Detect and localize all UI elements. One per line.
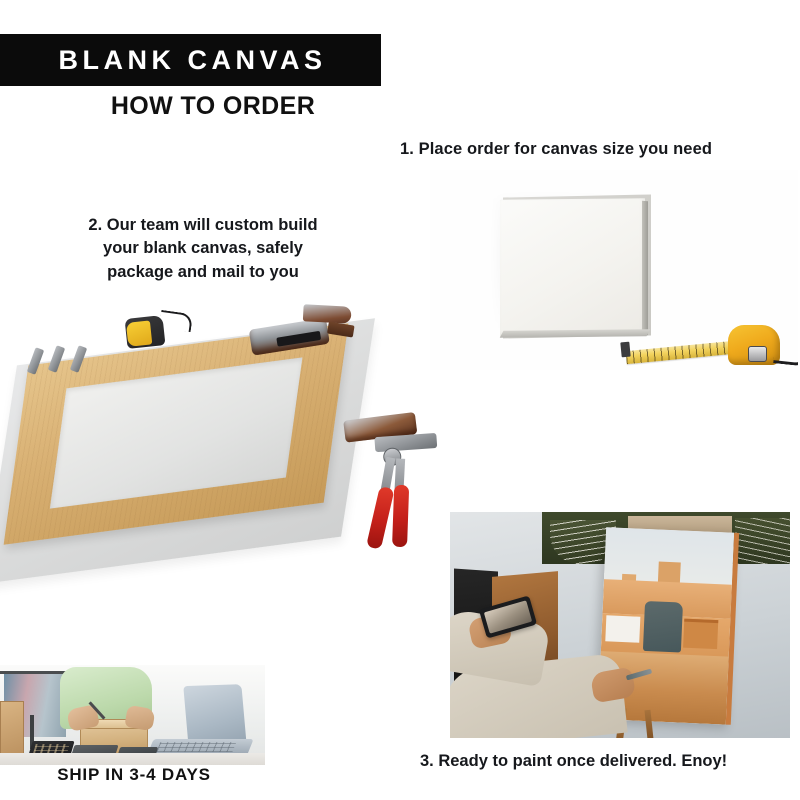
pliers-jaw xyxy=(374,433,437,452)
blank-canvas-photo xyxy=(430,170,798,370)
staple-gun-handle xyxy=(303,304,352,323)
canvas-right-edge xyxy=(642,201,648,336)
painting-white-shape xyxy=(605,615,640,642)
painting-structure xyxy=(683,619,718,649)
tape-measure-hook xyxy=(620,342,630,358)
step-2-caption-line-3: package and mail to you xyxy=(48,261,358,284)
tape-measure-yellow-body xyxy=(126,320,152,346)
macrame-wall-hanging xyxy=(735,518,790,564)
step-1-caption: 1. Place order for canvas size you need xyxy=(400,140,790,159)
title-band: BLANK CANVAS xyxy=(0,34,381,86)
tape-measure-strap xyxy=(159,310,193,332)
step-2-caption-line-2: your blank canvas, safely xyxy=(48,237,358,260)
step-3-caption: 3. Ready to paint once delivered. Enoy! xyxy=(420,752,795,771)
canvas-front-face xyxy=(500,198,645,337)
step-2-caption: 2. Our team will custom build your blank… xyxy=(48,214,358,284)
laptop-keyboard xyxy=(156,742,236,752)
infographic-root: BLANK CANVAS HOW TO ORDER 1. Place order… xyxy=(0,0,800,800)
tape-measure-blade-icon xyxy=(626,341,735,364)
page-title: BLANK CANVAS xyxy=(25,47,357,74)
packing-photo xyxy=(0,665,265,765)
canvas-pliers-icon xyxy=(331,413,455,564)
stacked-cardboard-boxes xyxy=(0,701,24,757)
tape-measure-cord xyxy=(773,344,798,367)
pliers-red-grip xyxy=(366,486,395,550)
step-2-caption-line-1: 2. Our team will custom build xyxy=(48,214,358,237)
clothes-rack-bar xyxy=(0,671,70,674)
page-subtitle: HOW TO ORDER xyxy=(58,92,368,121)
tape-measure-center-hub xyxy=(748,346,767,362)
painting-dark-figure xyxy=(643,601,683,653)
tape-measure-ticks xyxy=(626,341,735,364)
pliers-red-grip xyxy=(392,485,409,547)
shipping-label: SHIP IN 3-4 DAYS xyxy=(0,765,268,785)
desk-surface xyxy=(0,753,265,765)
artist-painting-photo xyxy=(450,512,790,738)
stretcher-frame-photo xyxy=(0,300,440,600)
